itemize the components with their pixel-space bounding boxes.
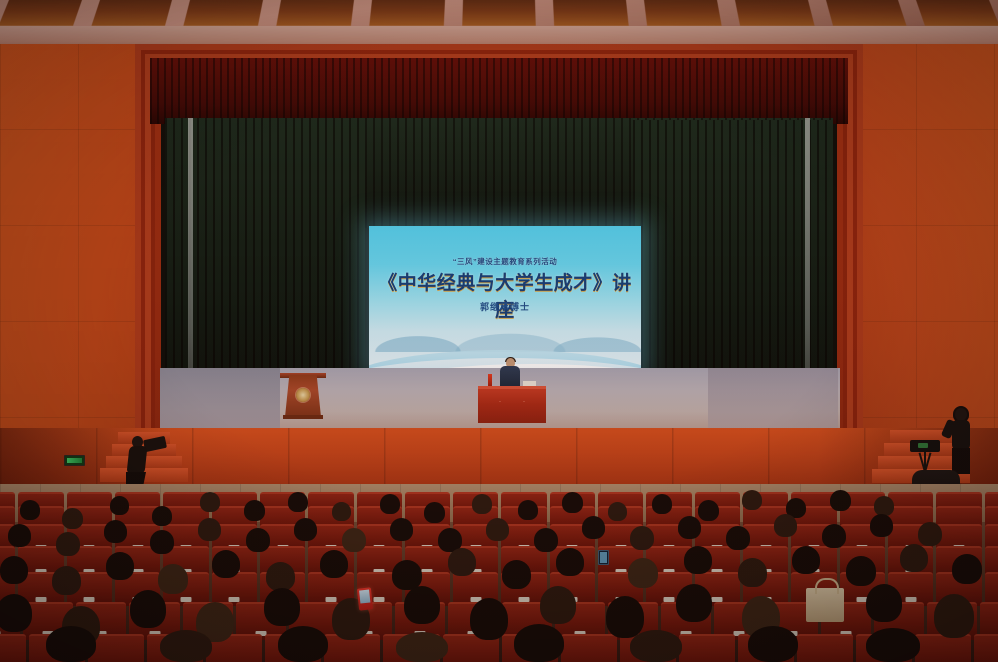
ceiling-light-panel [369, 0, 444, 26]
audience-seat[interactable] [0, 634, 26, 662]
stage-floor-shadow-right [708, 368, 838, 430]
podium-base [283, 415, 323, 419]
stage-floor-shadow-left [160, 368, 280, 430]
smartphone-in-row[interactable] [598, 550, 609, 565]
podium-emblem-icon [296, 388, 310, 402]
stage-valance-curtain [150, 58, 848, 124]
recording-indicator-icon [918, 443, 928, 448]
ceiling-light-panel [462, 0, 536, 26]
auditorium-lecture-photo: “三风”建设主题教育系列活动郭继承博士《中华经典与大学生成才》讲座 “三风”建设… [0, 0, 998, 662]
ceiling-light-panel [553, 0, 628, 26]
screen-speaker-name: 郭继承博士 [369, 300, 641, 313]
audience-seat[interactable] [561, 634, 617, 662]
ceiling-light-panel [826, 0, 907, 26]
seated-speaker [500, 366, 520, 388]
emergency-exit-sign [64, 455, 85, 466]
ceiling-light-panel [184, 0, 263, 26]
audience-seat[interactable] [797, 634, 853, 662]
raised-smartphone[interactable] [357, 587, 373, 610]
ceiling-light-panel [916, 0, 998, 26]
screen-title: 《中华经典与大学生成才》讲座 [369, 268, 641, 322]
tote-bag-on-seat [806, 588, 844, 622]
ceiling-light-panel [91, 0, 172, 26]
ceiling-light-panel [277, 0, 354, 26]
ceiling-light-panel [735, 0, 814, 26]
audience-seat[interactable] [974, 634, 998, 662]
audience-seat[interactable] [679, 634, 735, 662]
audience-seat[interactable] [915, 634, 971, 662]
stage-led-screen: “三风”建设主题教育系列活动 《中华经典与大学生成才》讲座 郭继承博士 [369, 226, 641, 372]
table-front-motif [488, 401, 536, 414]
photographer-right [946, 404, 980, 474]
ceiling-light-panel [0, 0, 82, 26]
ceiling-light-panel [644, 0, 721, 26]
audience-seat[interactable] [985, 572, 998, 606]
speaker-table [478, 386, 546, 423]
screen-subtitle: “三风”建设主题教育系列活动 [369, 256, 641, 267]
